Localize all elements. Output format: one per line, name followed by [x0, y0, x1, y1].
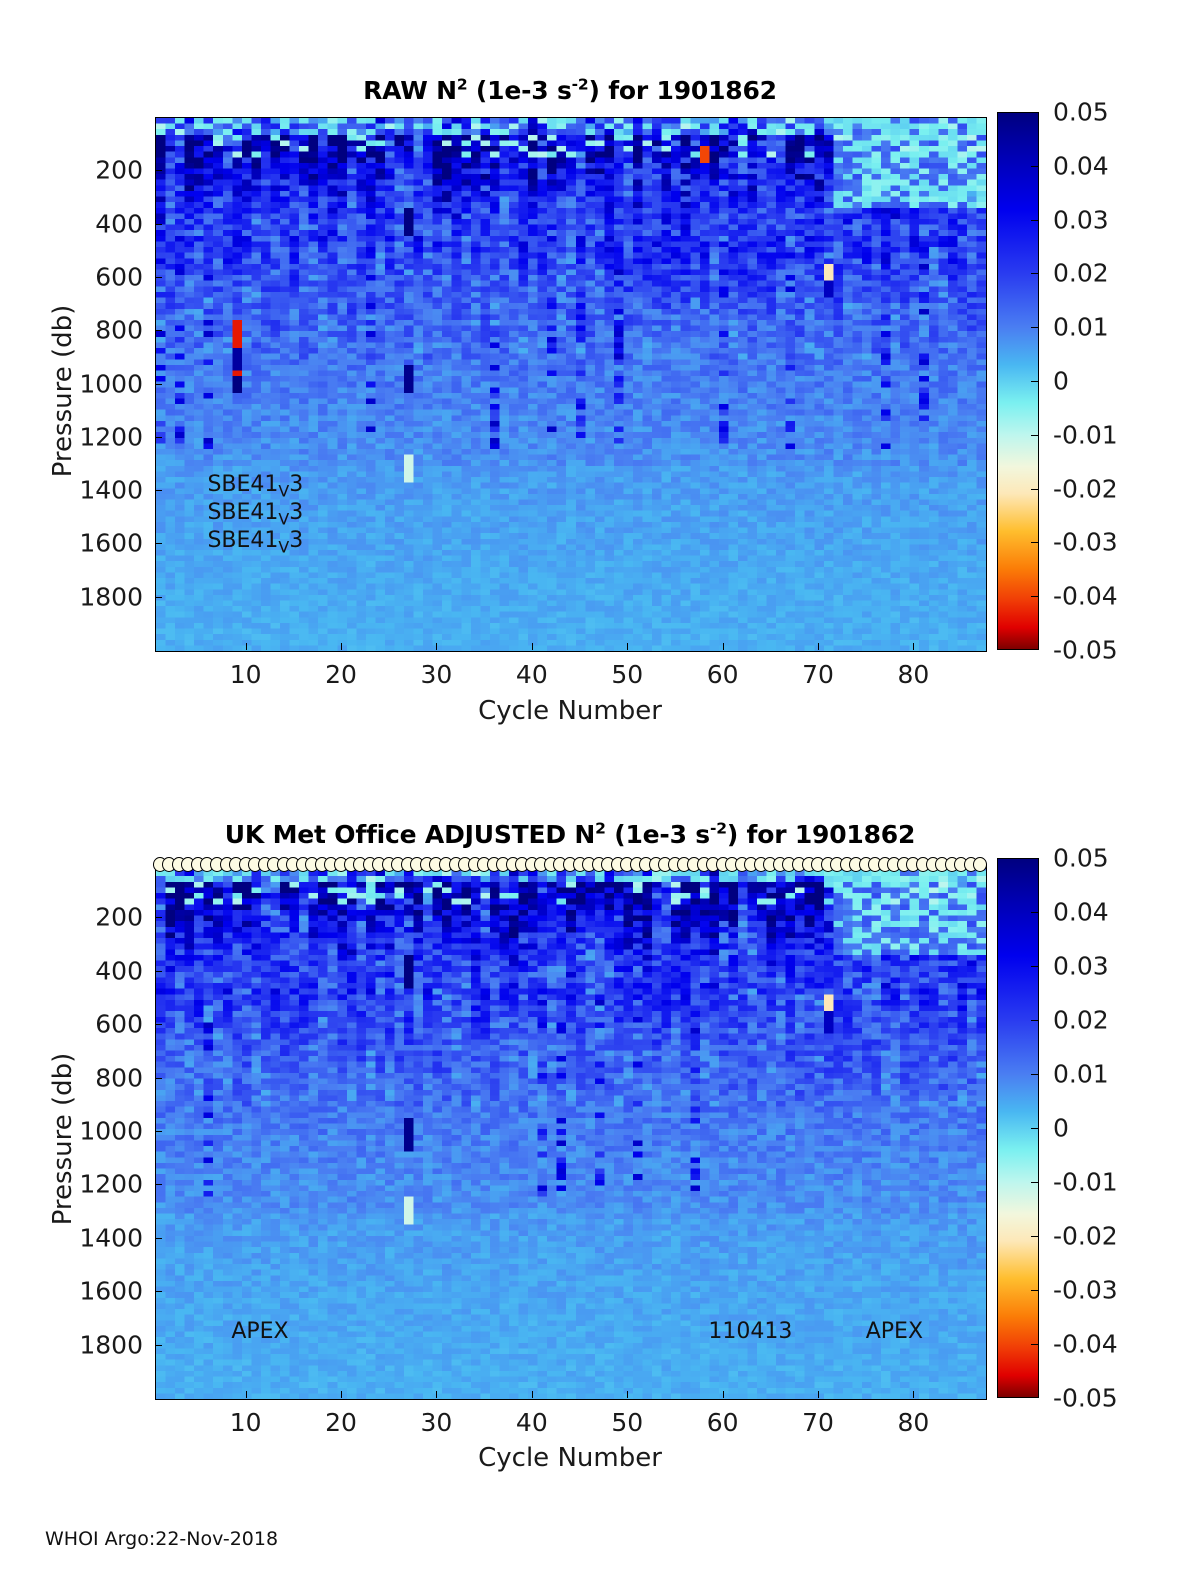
panel-raw-xtick-label: 30: [421, 660, 453, 689]
panel-raw-ytick-mark: [155, 277, 162, 278]
colorbar-tick-mark: [1031, 1182, 1039, 1183]
colorbar-tick-label: -0.01: [1053, 420, 1118, 449]
panel-adjusted-xtick-label: 40: [516, 1408, 548, 1437]
colorbar-tick-label: -0.03: [1053, 528, 1118, 557]
colorbar-tick-mark: [1031, 596, 1039, 597]
panel-raw-plot-area[interactable]: [155, 117, 987, 652]
panel-raw-xtick-mark: [818, 643, 819, 650]
panel-raw-annotation: SBE41V3: [207, 472, 303, 497]
colorbar-tick-mark: [1031, 1020, 1039, 1021]
colorbar-tick-mark: [1031, 1236, 1039, 1237]
panel-adjusted-ytick-mark: [155, 1291, 162, 1292]
panel-adjusted-xtick-mark: [436, 1391, 437, 1398]
panel-raw-xtick-label: 80: [898, 660, 930, 689]
annotation-text: SBE41: [207, 472, 278, 497]
panel-adjusted-ytick-mark: [155, 1078, 162, 1079]
panel-raw-ytick-mark: [155, 384, 162, 385]
panel-adjusted-xtick-label: 70: [802, 1408, 834, 1437]
annotation-text-post: 3: [289, 528, 303, 553]
colorbar-tick-label: 0.05: [1053, 98, 1109, 127]
colorbar-tick-mark: [1031, 220, 1039, 221]
panel-adjusted-ytick-mark: [155, 1024, 162, 1025]
colorbar-tick-label: 0: [1053, 367, 1069, 396]
panel-adjusted-xtick-mark: [627, 1391, 628, 1398]
title-superscript-2: 2: [457, 76, 468, 94]
annotation-text: SBE41: [207, 500, 278, 525]
colorbar-tick-label: 0.01: [1053, 1060, 1109, 1089]
title-superscript-exp: -2: [710, 820, 727, 838]
panel-adjusted-annotation: APEX: [231, 1319, 288, 1344]
panel-raw-xtick-mark: [723, 643, 724, 650]
colorbar-tick-mark: [1031, 966, 1039, 967]
annotation-text-post: 3: [289, 472, 303, 497]
colorbar-tick-mark: [1031, 435, 1039, 436]
annotation-text-post: 3: [289, 500, 303, 525]
panel-adjusted-xtick-label: 60: [707, 1408, 739, 1437]
panel-raw-y-axis-label: Pressure (db): [48, 281, 78, 501]
panel-adjusted-annotation: 110413: [708, 1319, 792, 1344]
panel-raw-xtick-mark: [436, 643, 437, 650]
colorbar-tick-mark: [1031, 1344, 1039, 1345]
colorbar-tick-label: 0.01: [1053, 313, 1109, 342]
colorbar-tick-mark: [1031, 912, 1039, 913]
annotation-text: SBE41: [207, 528, 278, 553]
panel-raw-annotation: SBE41V3: [207, 500, 303, 525]
panel-raw-annotation: SBE41V3: [207, 528, 303, 553]
panel-raw-ytick-label: 200: [5, 156, 143, 185]
title-text-mid: (1e-3 s: [606, 820, 710, 849]
panel-adjusted-ytick-label: 200: [5, 903, 143, 932]
title-text-mid: (1e-3 s: [467, 76, 571, 105]
panel-adjusted-ytick-mark: [155, 1184, 162, 1185]
panel-raw-ytick-mark: [155, 330, 162, 331]
panel-adjusted-y-axis-label: Pressure (db): [48, 1029, 78, 1249]
panel-raw-x-axis-label: Cycle Number: [478, 696, 662, 726]
colorbar-tick-label: 0.04: [1053, 898, 1109, 927]
footer-credit: WHOI Argo:22-Nov-2018: [45, 1528, 278, 1550]
heatmap-raw: [156, 118, 986, 651]
colorbar-tick-label: -0.03: [1053, 1276, 1118, 1305]
colorbar-tick-label: 0: [1053, 1114, 1069, 1143]
colorbar-tick-label: 0.02: [1053, 1006, 1109, 1035]
title-superscript-2: 2: [595, 820, 606, 838]
panel-adjusted-colorbar[interactable]: 0.050.040.030.020.010-0.01-0.02-0.03-0.0…: [997, 858, 1177, 1398]
panel-raw-ytick-mark: [155, 170, 162, 171]
title-text-main: RAW N: [363, 76, 457, 105]
panel-raw-colorbar[interactable]: 0.050.040.030.020.010-0.01-0.02-0.03-0.0…: [997, 112, 1177, 650]
colorbar-tick-mark: [1031, 381, 1039, 382]
panel-adjusted-xtick-mark: [913, 1391, 914, 1398]
panel-adjusted-xtick-mark: [532, 1391, 533, 1398]
colorbar-tick-mark: [1031, 1074, 1039, 1075]
panel-raw-ytick-mark: [155, 597, 162, 598]
panel-adjusted-xtick-mark: [246, 1391, 247, 1398]
panel-raw-xtick-mark: [913, 643, 914, 650]
panel-adjusted-xtick-mark: [723, 1391, 724, 1398]
title-text-post: ) for 1901862: [727, 820, 915, 849]
panel-raw-xtick-label: 20: [325, 660, 357, 689]
panel-adjusted-ytick-label: 400: [5, 956, 143, 985]
panel-raw-ytick-label: 400: [5, 209, 143, 238]
annotation-text: 110413: [708, 1319, 792, 1344]
panel-adjusted-ytick-mark: [155, 1238, 162, 1239]
colorbar-tick-label: -0.01: [1053, 1168, 1118, 1197]
panel-raw-xtick-label: 60: [707, 660, 739, 689]
colorbar-tick-label: 0.03: [1053, 952, 1109, 981]
colorbar-tick-label: 0.03: [1053, 205, 1109, 234]
colorbar-tick-mark: [1031, 166, 1039, 167]
panel-raw-xtick-label: 40: [516, 660, 548, 689]
title-text-post: ) for 1901862: [588, 76, 776, 105]
colorbar-tick-mark: [1031, 273, 1039, 274]
colorbar-tick-mark: [1031, 489, 1039, 490]
annotation-text: APEX: [866, 1319, 923, 1344]
panel-adjusted-xtick-label: 10: [230, 1408, 262, 1437]
panel-adjusted-ytick-mark: [155, 971, 162, 972]
panel-adjusted-ytick-label: 1800: [5, 1330, 143, 1359]
colorbar-tick-mark: [1031, 327, 1039, 328]
colorbar-tick-label: -0.04: [1053, 1330, 1118, 1359]
panel-adjusted-xtick-label: 80: [898, 1408, 930, 1437]
panel-raw-xtick-label: 50: [611, 660, 643, 689]
panel-adjusted-xtick-label: 30: [421, 1408, 453, 1437]
panel-raw-xtick-label: 70: [802, 660, 834, 689]
colorbar-tick-label: -0.02: [1053, 474, 1118, 503]
colorbar-tick-mark: [1031, 1290, 1039, 1291]
panel-adjusted-ytick-mark: [155, 917, 162, 918]
colorbar-tick-mark: [1031, 1128, 1039, 1129]
panel-raw-xtick-mark: [532, 643, 533, 650]
panel-raw-ytick-mark: [155, 543, 162, 544]
annotation-subscript: V: [278, 537, 289, 556]
panel-adjusted-ytick-mark: [155, 1131, 162, 1132]
panel-adjusted-ytick-mark: [155, 1345, 162, 1346]
panel-raw-ytick-mark: [155, 224, 162, 225]
panel-raw-title: RAW N2 (1e-3 s-2) for 1901862: [155, 76, 985, 105]
panel-raw-ytick-label: 1600: [5, 529, 143, 558]
colorbar-tick-label: -0.04: [1053, 582, 1118, 611]
panel-raw-xtick-mark: [627, 643, 628, 650]
panel-adjusted-xtick-label: 20: [325, 1408, 357, 1437]
panel-adjusted-xtick-mark: [818, 1391, 819, 1398]
annotation-subscript: V: [278, 481, 289, 500]
colorbar-tick-label: -0.02: [1053, 1222, 1118, 1251]
title-superscript-exp: -2: [572, 76, 589, 94]
title-text-main: UK Met Office ADJUSTED N: [225, 820, 595, 849]
panel-adjusted-xtick-label: 50: [611, 1408, 643, 1437]
annotation-text: APEX: [231, 1319, 288, 1344]
panel-adjusted-ytick-label: 1600: [5, 1277, 143, 1306]
panel-raw-xtick-label: 10: [230, 660, 262, 689]
panel-raw-ytick-mark: [155, 490, 162, 491]
colorbar-tick-label: 0.05: [1053, 844, 1109, 873]
panel-raw-xtick-mark: [246, 643, 247, 650]
annotation-subscript: V: [278, 509, 289, 528]
panel-adjusted-x-axis-label: Cycle Number: [478, 1443, 662, 1473]
panel-adjusted-annotation: APEX: [866, 1319, 923, 1344]
panel-adjusted-xtick-mark: [341, 1391, 342, 1398]
panel-raw-ytick-mark: [155, 437, 162, 438]
panel-raw-ytick-label: 1800: [5, 582, 143, 611]
panel-adjusted-title: UK Met Office ADJUSTED N2 (1e-3 s-2) for…: [155, 820, 985, 849]
colorbar-tick-label: -0.05: [1053, 636, 1118, 665]
colorbar-tick-mark: [1031, 542, 1039, 543]
panel-raw-xtick-mark: [341, 643, 342, 650]
colorbar-tick-label: 0.04: [1053, 151, 1109, 180]
colorbar-tick-label: -0.05: [1053, 1384, 1118, 1413]
colorbar-tick-label: 0.02: [1053, 259, 1109, 288]
